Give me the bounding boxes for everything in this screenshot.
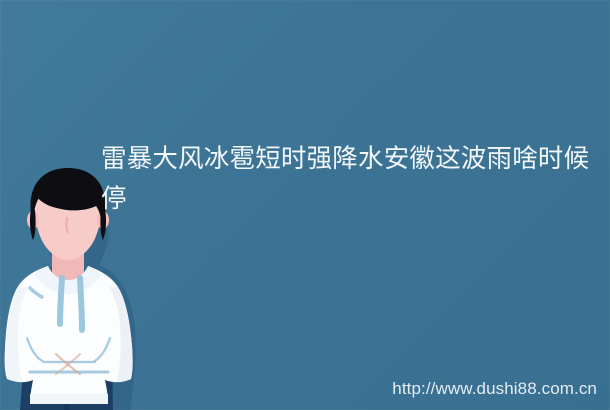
headline-title: 雷暴大风冰雹短时强降水安徽这波雨啥时候停 xyxy=(101,139,601,219)
cover-image: 雷暴大风冰雹短时强降水安徽这波雨啥时候停 http://www.dushi88.… xyxy=(0,0,610,410)
watermark-url: http://www.dushi88.com.cn xyxy=(392,379,597,399)
